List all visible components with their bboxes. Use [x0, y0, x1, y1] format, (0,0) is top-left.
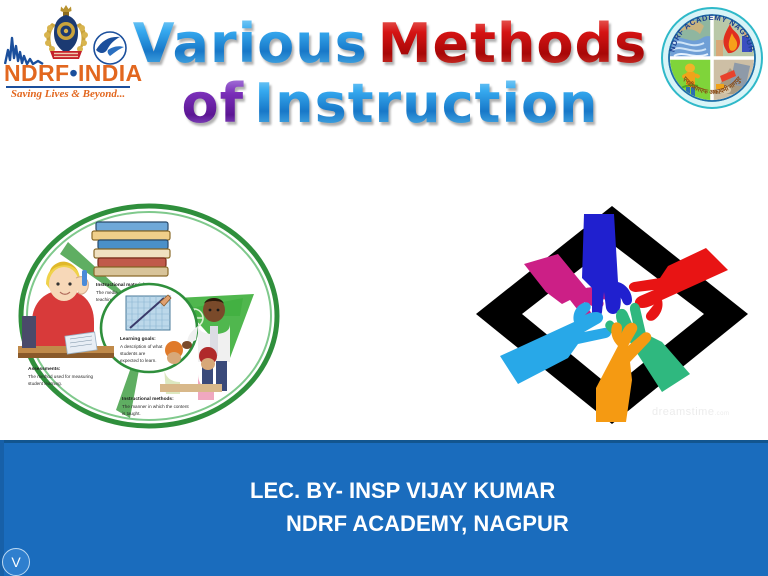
ndrf-wordmark-dot: •: [69, 60, 77, 86]
title-line-2: ofInstruction: [120, 74, 660, 134]
ndrf-wordmark-ndrf: NDRF: [4, 60, 69, 86]
wheel-label-goals-body-1: A description of what: [120, 344, 163, 349]
stack-of-books-icon: [92, 222, 170, 276]
wheel-label-assessments-heading: Assessments:: [28, 366, 61, 372]
presenter-line-2: NDRF ACADEMY, NAGPUR: [250, 507, 720, 540]
title-word-instruction: Instruction: [254, 72, 598, 135]
wheel-label-assessments-body-1: The method used for measuring: [28, 374, 94, 379]
title-word-various: Various: [133, 12, 378, 75]
wheel-label-goals-body-3: expected to learn.: [120, 358, 157, 363]
colored-hands-teamwork-image: [466, 196, 758, 434]
ndrf-academy-nagpur-logo: NDRF ACADEMY NAGPUR एनडीआरएफ अकादमी नागप…: [660, 6, 764, 110]
graph-pencil-icon: [126, 295, 171, 330]
dreamstime-watermark: dreamstime.com: [652, 406, 756, 418]
ndrf-tagline: Saving Lives & Beyond...: [4, 88, 132, 100]
ndrf-crest-emblem-icon: [38, 3, 94, 65]
title-word-of: of: [181, 72, 254, 135]
title-word-methods: Methods: [378, 12, 648, 75]
title-line-1: VariousMethods: [120, 14, 660, 74]
ndrf-india-logo: NDRF•INDIA Saving Lives & Beyond...: [2, 2, 134, 110]
wheel-label-assessments-body-2: student learning.: [28, 381, 62, 386]
ndrf-wordmark: NDRF•INDIA: [4, 62, 132, 85]
slide-corner-badge[interactable]: V: [2, 548, 30, 576]
presentation-slide: NDRF•INDIA Saving Lives & Beyond...: [0, 0, 768, 576]
page-title: VariousMethods ofInstruction: [120, 14, 660, 134]
footer-band-top-edge: [0, 440, 768, 443]
wheel-label-methods-body-1: The manner in which the content: [122, 404, 189, 409]
presenter-line-1: LEC. BY- INSP VIJAY KUMAR: [250, 474, 720, 507]
instruction-components-wheel-image: Instructional materials: The media and t…: [8, 198, 290, 436]
wheel-label-goals-heading: Learning goals:: [120, 336, 156, 342]
watermark-suffix: .com: [714, 411, 729, 417]
presenter-credit: LEC. BY- INSP VIJAY KUMAR NDRF ACADEMY, …: [250, 474, 720, 540]
wheel-label-methods-body-2: is taught.: [122, 411, 141, 416]
wheel-label-goals-body-2: students are: [120, 351, 146, 356]
watermark-text: dreamstime: [652, 406, 714, 418]
wheel-label-methods-heading: Instructional methods:: [122, 396, 174, 402]
